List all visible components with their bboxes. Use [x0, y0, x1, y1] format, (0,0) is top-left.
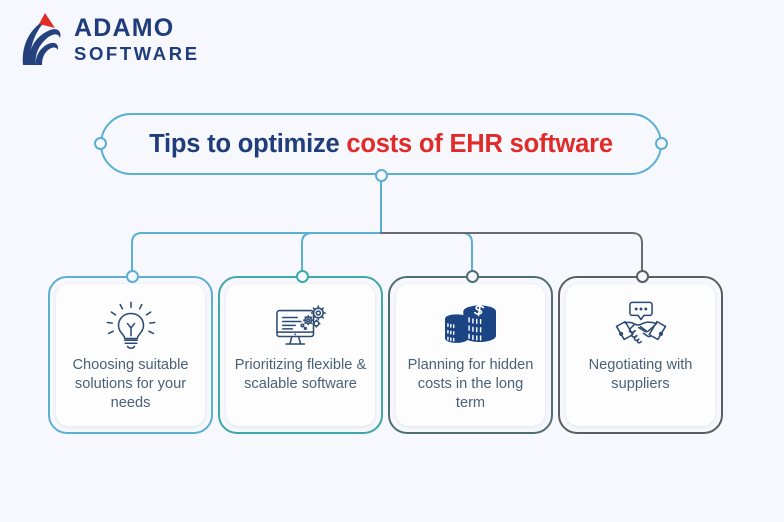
tip-card-label: Prioritizing flexible & scalable softwar…	[226, 356, 375, 394]
brand-name-line2: SOFTWARE	[74, 45, 264, 64]
title-connector-bottom-knob	[375, 169, 388, 182]
brand-logo: ADAMO SOFTWARE	[14, 8, 264, 70]
page-title-box: Tips to optimize costs of EHR software	[100, 113, 662, 175]
handshake-chat-icon	[611, 300, 671, 350]
tip-card-choosing-suitable-solutions[interactable]: Choosing suitable solutions for your nee…	[48, 276, 213, 434]
title-connector-left-knob	[94, 137, 107, 150]
page-title: Tips to optimize costs of EHR software	[149, 130, 613, 159]
tip-card-inner: Prioritizing flexible & scalable softwar…	[226, 284, 375, 426]
page-title-part-highlight: costs of EHR software	[346, 130, 612, 158]
title-connector-right-knob	[655, 137, 668, 150]
tip-card-label: Choosing suitable solutions for your nee…	[56, 356, 205, 413]
tip-card-inner: Choosing suitable solutions for your nee…	[56, 284, 205, 426]
tip-card-planning-hidden-costs[interactable]: Planning for hidden costs in the long te…	[388, 276, 553, 434]
connector-lines	[0, 0, 784, 522]
tip-card-label: Planning for hidden costs in the long te…	[396, 356, 545, 413]
page-title-part-dark: Tips to optimize	[149, 130, 346, 158]
card-connector-knob-3	[466, 270, 479, 283]
adamo-swoosh-logo	[14, 10, 70, 68]
card-connector-knob-4	[636, 270, 649, 283]
tip-card-inner: Negotiating with suppliers	[566, 284, 715, 426]
card-connector-knob-2	[296, 270, 309, 283]
card-connector-knob-1	[126, 270, 139, 283]
coin-stacks-icon	[441, 300, 501, 350]
tip-card-negotiating-with-suppliers[interactable]: Negotiating with suppliers	[558, 276, 723, 434]
lightbulb-icon	[101, 300, 161, 350]
tip-card-prioritizing-flexible-scalable-software[interactable]: Prioritizing flexible & scalable softwar…	[218, 276, 383, 434]
monitor-gears-icon	[271, 300, 331, 350]
brand-wordmark: ADAMO SOFTWARE	[74, 16, 264, 64]
tip-card-inner: Planning for hidden costs in the long te…	[396, 284, 545, 426]
tip-card-label: Negotiating with suppliers	[566, 356, 715, 394]
brand-name-line1: ADAMO	[74, 16, 264, 41]
